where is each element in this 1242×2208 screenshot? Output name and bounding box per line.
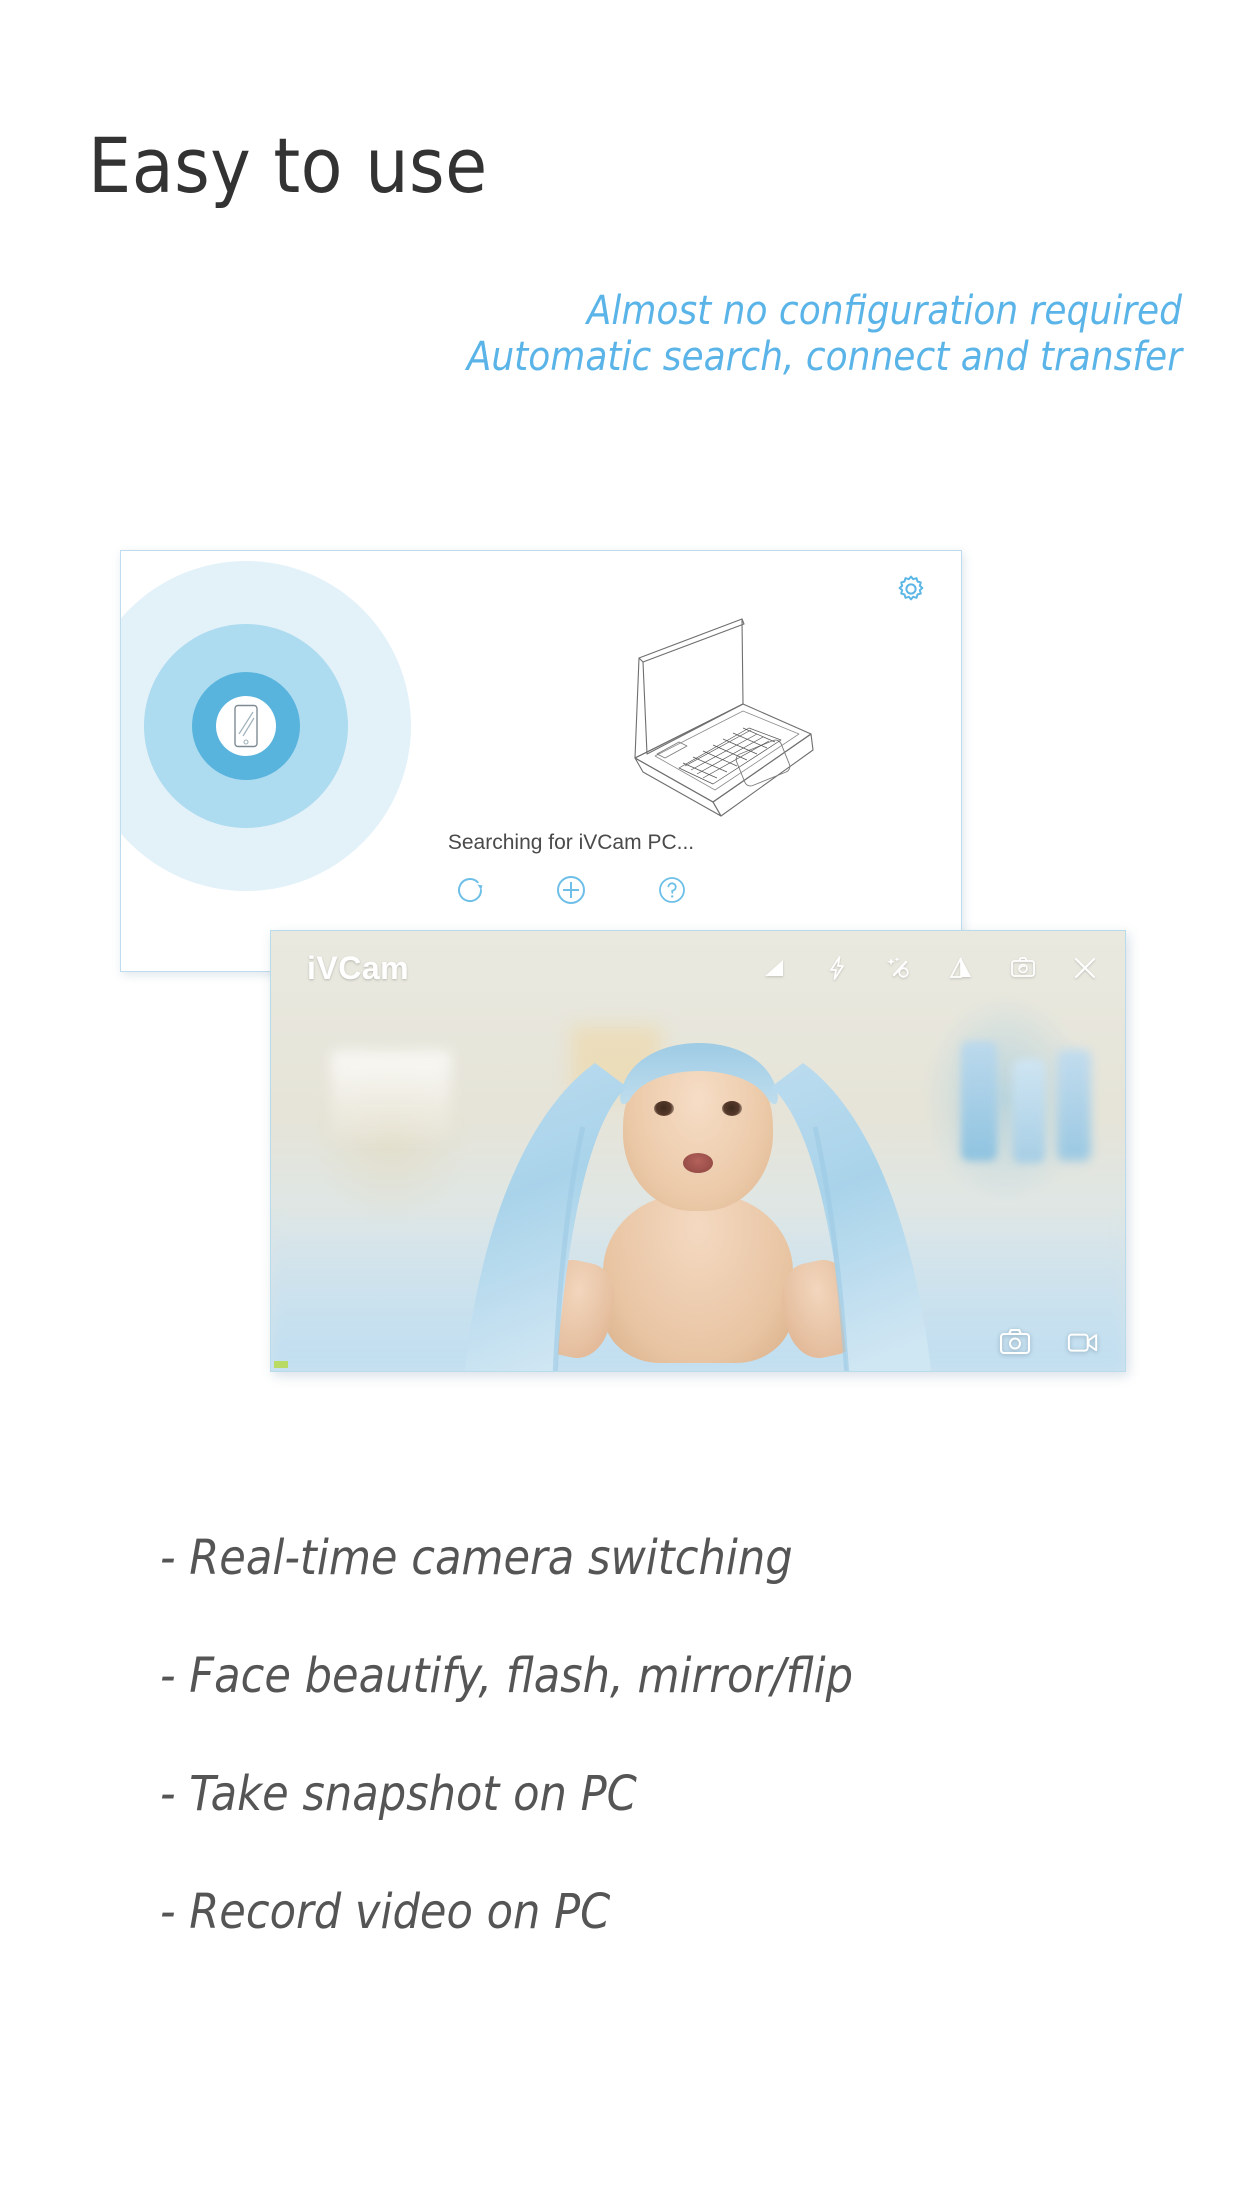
- help-icon: [655, 873, 689, 907]
- refresh-button[interactable]: [453, 873, 487, 907]
- beautify-wand-icon: [885, 954, 913, 982]
- radar-animation: [120, 561, 411, 891]
- record-video-icon: [1067, 1329, 1099, 1355]
- video-toolbar-top: iVCam: [271, 931, 1125, 1005]
- refresh-icon: [453, 873, 487, 907]
- laptop-illustration: [621, 606, 921, 836]
- add-connection-button[interactable]: [554, 873, 588, 907]
- close-button[interactable]: [1071, 954, 1099, 982]
- switch-camera-icon: [1009, 954, 1037, 982]
- settings-button[interactable]: [895, 573, 927, 605]
- record-video-button[interactable]: [1067, 1327, 1099, 1357]
- ivcam-app-window: Searching for iVCam PC...: [120, 550, 962, 972]
- background-shelf: [331, 1051, 451, 1141]
- mirror-flip-button[interactable]: [947, 954, 975, 982]
- page-subtitle: Almost no configuration required Automat…: [467, 288, 1182, 380]
- flash-icon: [823, 954, 851, 982]
- video-toolbar-bottom: [999, 1327, 1099, 1357]
- signal-bars-icon: [761, 954, 789, 982]
- list-item: - Record video on PC: [160, 1884, 853, 1940]
- list-item: - Face beautify, flash, mirror/flip: [160, 1648, 853, 1704]
- blue-towel: [463, 967, 933, 1372]
- subtitle-line-2: Automatic search, connect and transfer: [467, 334, 1182, 380]
- subtitle-line-1: Almost no configuration required: [467, 288, 1182, 334]
- video-top-icon-group: [761, 954, 1099, 982]
- background-bottle: [1013, 1059, 1045, 1163]
- search-status-text: Searching for iVCam PC...: [421, 831, 721, 855]
- list-item: - Take snapshot on PC: [160, 1766, 853, 1822]
- snapshot-button[interactable]: [999, 1327, 1031, 1357]
- signal-bars-button[interactable]: [761, 954, 789, 982]
- recording-indicator: [274, 1361, 288, 1368]
- page-title: Easy to use: [88, 128, 488, 204]
- background-bottle: [1057, 1049, 1091, 1161]
- background-bottle: [961, 1041, 997, 1161]
- snapshot-camera-icon: [999, 1327, 1031, 1357]
- close-icon: [1071, 954, 1099, 982]
- mirror-flip-icon: [947, 954, 975, 982]
- list-item: - Real-time camera switching: [160, 1530, 853, 1586]
- switch-camera-button[interactable]: [1009, 954, 1037, 982]
- phone-icon: [233, 704, 259, 748]
- beautify-button[interactable]: [885, 954, 913, 982]
- feature-list: - Real-time camera switching - Face beau…: [160, 1530, 853, 2002]
- gear-icon: [895, 573, 927, 605]
- app-brand-label: iVCam: [307, 950, 409, 987]
- help-button[interactable]: [655, 873, 689, 907]
- plus-icon: [554, 873, 588, 907]
- ivcam-video-window: iVCam: [270, 930, 1126, 1372]
- app-action-row: [421, 873, 721, 907]
- flash-button[interactable]: [823, 954, 851, 982]
